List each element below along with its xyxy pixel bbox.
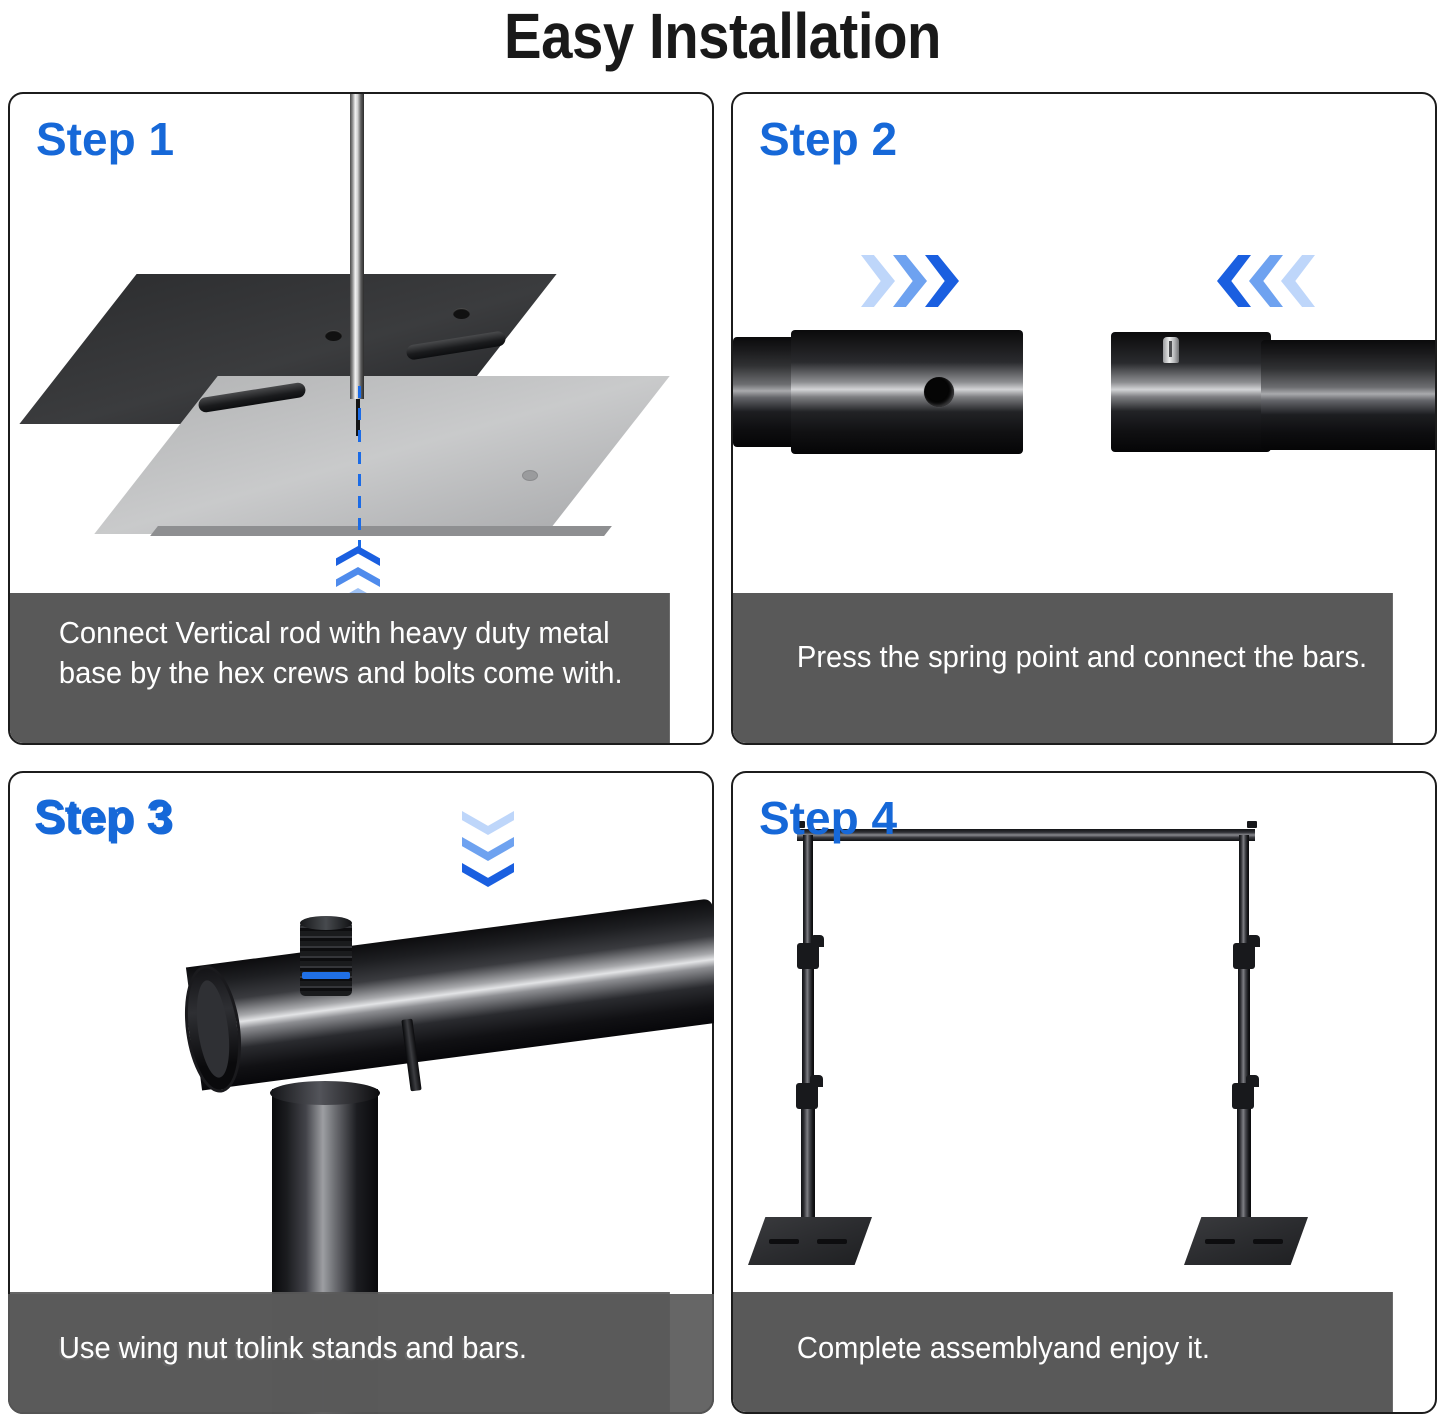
left-chevron-2-icon: [1249, 255, 1283, 307]
step-panel-2: Press the spring point and connect the b…: [731, 92, 1437, 745]
left-tube-section: [791, 330, 1023, 454]
bolt-hole-left: [325, 330, 342, 341]
left-chevron-1-icon: [1217, 255, 1251, 307]
left-tube-collar: [733, 337, 795, 447]
right-base-slot-2: [1253, 1239, 1283, 1244]
base-plate-rivet: [522, 470, 538, 481]
left-chevron-3-icon: [1281, 255, 1315, 307]
crossbar-right-tip: [1247, 821, 1257, 828]
step-2-caption: Press the spring point and connect the b…: [733, 593, 1393, 743]
step-3-caption: Use wing nut tolink stands and bars.: [10, 1292, 670, 1412]
step-panel-1: Connect Vertical rod with heavy duty met…: [8, 92, 714, 745]
right-clamp-upper: [1233, 943, 1255, 969]
left-clamp-upper: [797, 943, 819, 969]
installation-guide-page: Easy Installation Con: [0, 0, 1445, 1422]
right-base-slot-1: [1205, 1239, 1235, 1244]
right-tube-section: [1261, 340, 1437, 450]
up-chevron-2-icon: [336, 567, 380, 587]
step-1-label: Step 1: [36, 112, 174, 166]
left-clamp-lower: [796, 1083, 818, 1109]
right-chevron-3-icon: [925, 255, 959, 307]
step-panel-4: Complete assemblyand enjoy it. Step 4: [731, 771, 1437, 1414]
step-3-label: Step 3: [36, 791, 174, 845]
bolt-hole-right: [453, 308, 470, 319]
right-clamp-lower: [1232, 1083, 1254, 1109]
right-base-plate: [1184, 1217, 1308, 1265]
right-chevron-1-icon: [861, 255, 895, 307]
step-4-caption: Complete assemblyand enjoy it.: [733, 1292, 1393, 1412]
step-2-label: Step 2: [759, 112, 897, 166]
page-title: Easy Installation: [87, 0, 1359, 74]
step-4-label: Step 4: [759, 791, 897, 845]
spring-pin-icon: [1163, 337, 1179, 363]
step-1-caption: Connect Vertical rod with heavy duty met…: [10, 593, 670, 743]
alignment-dashed-line: [358, 386, 361, 551]
base-plate-edge: [150, 526, 612, 536]
step-panel-3: Step 3 Use wing nut tolink stands and ba…: [8, 771, 714, 1414]
right-tube-end: [1111, 332, 1271, 452]
left-base-slot-1: [769, 1239, 799, 1244]
right-chevron-2-icon: [893, 255, 927, 307]
tube-hole: [924, 377, 954, 407]
vertical-rod: [350, 94, 364, 399]
up-chevron-1-icon: [336, 546, 380, 566]
left-base-plate: [748, 1217, 872, 1265]
left-base-slot-2: [817, 1239, 847, 1244]
